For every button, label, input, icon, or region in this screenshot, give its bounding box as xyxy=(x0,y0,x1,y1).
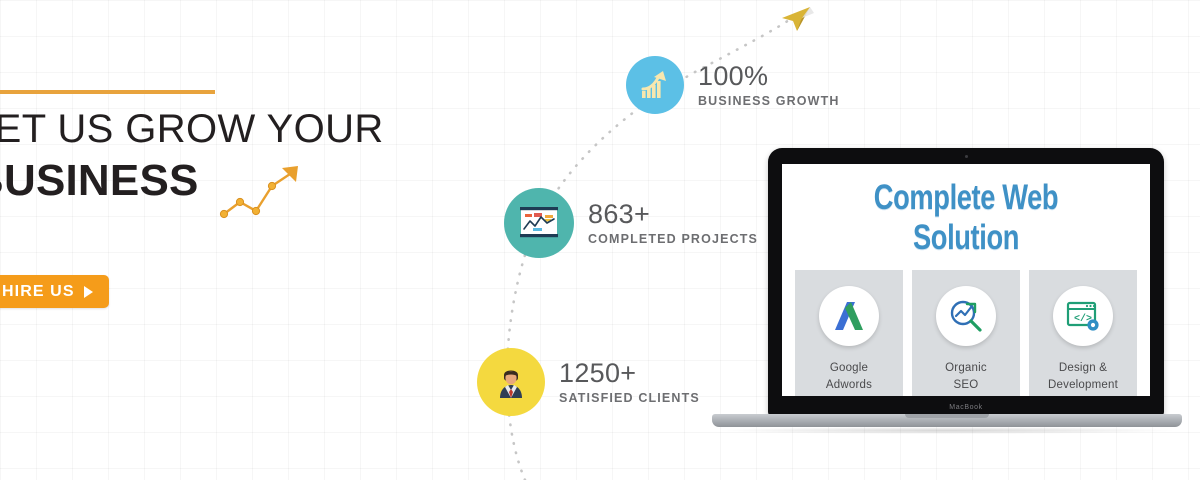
laptop-shadow xyxy=(722,427,1172,434)
headline-underline xyxy=(0,90,215,94)
laptop-screen: Complete Web Solution Google Adwords xyxy=(782,164,1150,396)
paper-plane-icon xyxy=(780,4,816,34)
stat-label: BUSINESS GROWTH xyxy=(698,95,840,108)
service-card-label: Design & Development xyxy=(1048,360,1118,393)
stat-text-growth: 100% BUSINESS GROWTH xyxy=(698,63,840,108)
seo-magnifier-arrow-icon xyxy=(936,286,996,346)
headline-block: LET US GROW YOUR BUSINESS xyxy=(0,108,402,207)
stat-text-clients: 1250+ SATISFIED CLIENTS xyxy=(559,360,700,405)
service-label-line-2: SEO xyxy=(954,379,979,391)
stat-value: 1250+ xyxy=(559,360,700,387)
service-card-list: Google Adwords xyxy=(782,270,1150,396)
laptop-lid: Complete Web Solution Google Adwords xyxy=(768,148,1164,416)
service-card-label: Google Adwords xyxy=(826,360,872,393)
stat-business-growth: 100% BUSINESS GROWTH xyxy=(626,56,840,114)
laptop-base-notch xyxy=(905,414,989,418)
service-label-line-1: Design & xyxy=(1059,362,1107,374)
stat-satisfied-clients: 1250+ SATISFIED CLIENTS xyxy=(477,348,700,416)
service-card-label: Organic SEO xyxy=(945,360,987,393)
headline-line-2: BUSINESS xyxy=(0,156,199,207)
stat-icon-circle-growth xyxy=(626,56,684,114)
hire-us-button[interactable]: HIRE US xyxy=(0,275,109,308)
google-adwords-logo-icon xyxy=(819,286,879,346)
play-caret-icon xyxy=(84,286,93,298)
service-card-design-development[interactable]: </> Design & Development xyxy=(1029,270,1137,396)
businessman-avatar-icon xyxy=(496,366,526,398)
hire-us-label: HIRE US xyxy=(2,283,75,301)
stat-label: SATISFIED CLIENTS xyxy=(559,392,700,405)
code-window-gear-icon: </> xyxy=(1053,286,1113,346)
hero-banner: LET US GROW YOUR BUSINESS HIRE US xyxy=(0,0,1200,480)
service-card-organic-seo[interactable]: Organic SEO xyxy=(912,270,1020,396)
service-label-line-2: Development xyxy=(1048,379,1118,391)
service-label-line-2: Adwords xyxy=(826,379,872,391)
stat-icon-circle-clients xyxy=(477,348,545,416)
presentation-chart-icon xyxy=(519,206,559,240)
bar-chart-growth-icon xyxy=(639,69,671,101)
orange-growth-chart-arrow-icon xyxy=(218,162,328,224)
webcam-icon xyxy=(965,155,968,158)
service-label-line-1: Google xyxy=(830,362,868,374)
screen-title: Complete Web Solution xyxy=(822,178,1109,258)
laptop-mockup: Complete Web Solution Google Adwords xyxy=(712,148,1182,440)
headline-line-1: LET US GROW YOUR xyxy=(0,108,402,150)
laptop-brand-label: MacBook xyxy=(768,404,1164,411)
stat-icon-circle-projects xyxy=(504,188,574,258)
service-label-line-1: Organic xyxy=(945,362,987,374)
stat-value: 100% xyxy=(698,63,840,90)
service-card-google-adwords[interactable]: Google Adwords xyxy=(795,270,903,396)
